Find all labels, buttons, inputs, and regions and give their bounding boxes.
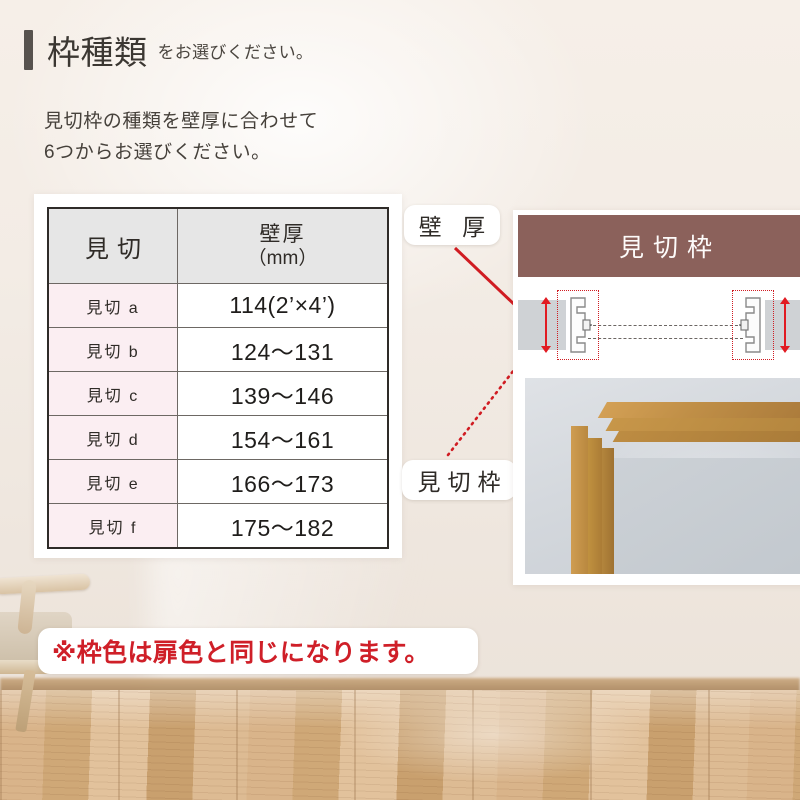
jamb-profile-right [739,296,767,354]
table-body: 見切 a 114(2’×4’) 見切 b 124〜131 見切 c 139〜14… [48,284,388,549]
title-sub-text: をお選びください。 [158,38,314,63]
title-accent-bar [24,30,33,70]
header-cell-wall-thickness: 壁厚 （mm） [178,208,389,284]
frame-side-moulding-3 [602,448,614,574]
lead-line-2: 6つからお選びください。 [44,137,318,168]
page-stage: 枠種類 をお選びください。 見切枠の種類を壁厚に合わせて 6つからお選びください… [0,0,800,800]
title-main-text: 枠種類 [47,26,148,74]
chair-armrest [0,573,90,594]
callout-frame-label: 見切枠 [411,463,508,497]
row-value-c: 139〜146 [178,372,389,416]
frame-detail-panel: 見切枠 [513,210,800,585]
spec-table-card: 見切 壁厚 （mm） 見切 a 114(2’×4’) 見切 b 124〜131 [34,194,402,558]
frame-corner-photo [525,378,800,574]
jamb-profile-shape-right [739,296,767,354]
jamb-highlight-box-left [557,290,599,360]
chair-leg-front [15,670,36,733]
row-label-e: 見切 e [48,460,178,504]
row-label-d: 見切 d [48,416,178,460]
callout-wall-thickness: 壁 厚 [404,205,500,245]
callout-frame: 見切枠 [402,460,516,500]
photo-wood-frame [571,386,800,574]
frame-side-moulding-1 [571,426,588,574]
table-row[interactable]: 見切 a 114(2’×4’) [48,284,388,328]
panel-title: 見切枠 [518,215,800,277]
table-row[interactable]: 見切 f 175〜182 [48,504,388,549]
jamb-profile-left [564,296,592,354]
table-row[interactable]: 見切 d 154〜161 [48,416,388,460]
frame-top-moulding-3 [613,431,800,442]
frame-top-moulding-1 [598,402,800,418]
table-row[interactable]: 見切 e 166〜173 [48,460,388,504]
header-wall-thickness-main: 壁厚 [260,223,306,246]
arrow-head-left-top [541,297,551,304]
cross-section-diagram [518,278,800,371]
door-line-upper [588,325,743,326]
row-value-b: 124〜131 [178,328,389,372]
callout-wall-thickness-label: 壁 厚 [412,208,492,242]
lead-paragraph: 見切枠の種類を壁厚に合わせて 6つからお選びください。 [44,106,318,169]
table-row[interactable]: 見切 b 124〜131 [48,328,388,372]
lead-line-1: 見切枠の種類を壁厚に合わせて [44,106,318,137]
header-cell-mikiri: 見切 [48,208,178,284]
spec-table: 見切 壁厚 （mm） 見切 a 114(2’×4’) 見切 b 124〜131 [47,207,389,549]
page-title: 枠種類 をお選びください。 [24,26,313,74]
wall-light-sheen [150,540,570,700]
floor-light-reflection [330,690,660,800]
header-wall-thickness-unit: （mm） [178,247,387,270]
row-label-a: 見切 a [48,284,178,328]
row-label-c: 見切 c [48,372,178,416]
photo-doorway-opening [614,458,800,574]
wall-thickness-arrow-right [784,302,786,348]
table-header-row: 見切 壁厚 （mm） [48,208,388,284]
wall-thickness-arrow-left [545,302,547,348]
table-row[interactable]: 見切 c 139〜146 [48,372,388,416]
row-value-e: 166〜173 [178,460,389,504]
row-value-a: 114(2’×4’) [178,284,389,328]
frame-side-moulding-2 [588,438,602,574]
notice-banner: ※枠色は扉色と同じになります。 [38,628,478,674]
row-label-f: 見切 f [48,504,178,549]
door-line-lower [588,338,743,339]
arrow-head-left-bottom [541,346,551,353]
frame-top-moulding-2 [605,418,800,431]
arrow-head-right-bottom [780,346,790,353]
row-value-f: 175〜182 [178,504,389,549]
row-label-b: 見切 b [48,328,178,372]
notice-text: ※枠色は扉色と同じになります。 [38,633,430,669]
arrow-head-right-top [780,297,790,304]
row-value-d: 154〜161 [178,416,389,460]
